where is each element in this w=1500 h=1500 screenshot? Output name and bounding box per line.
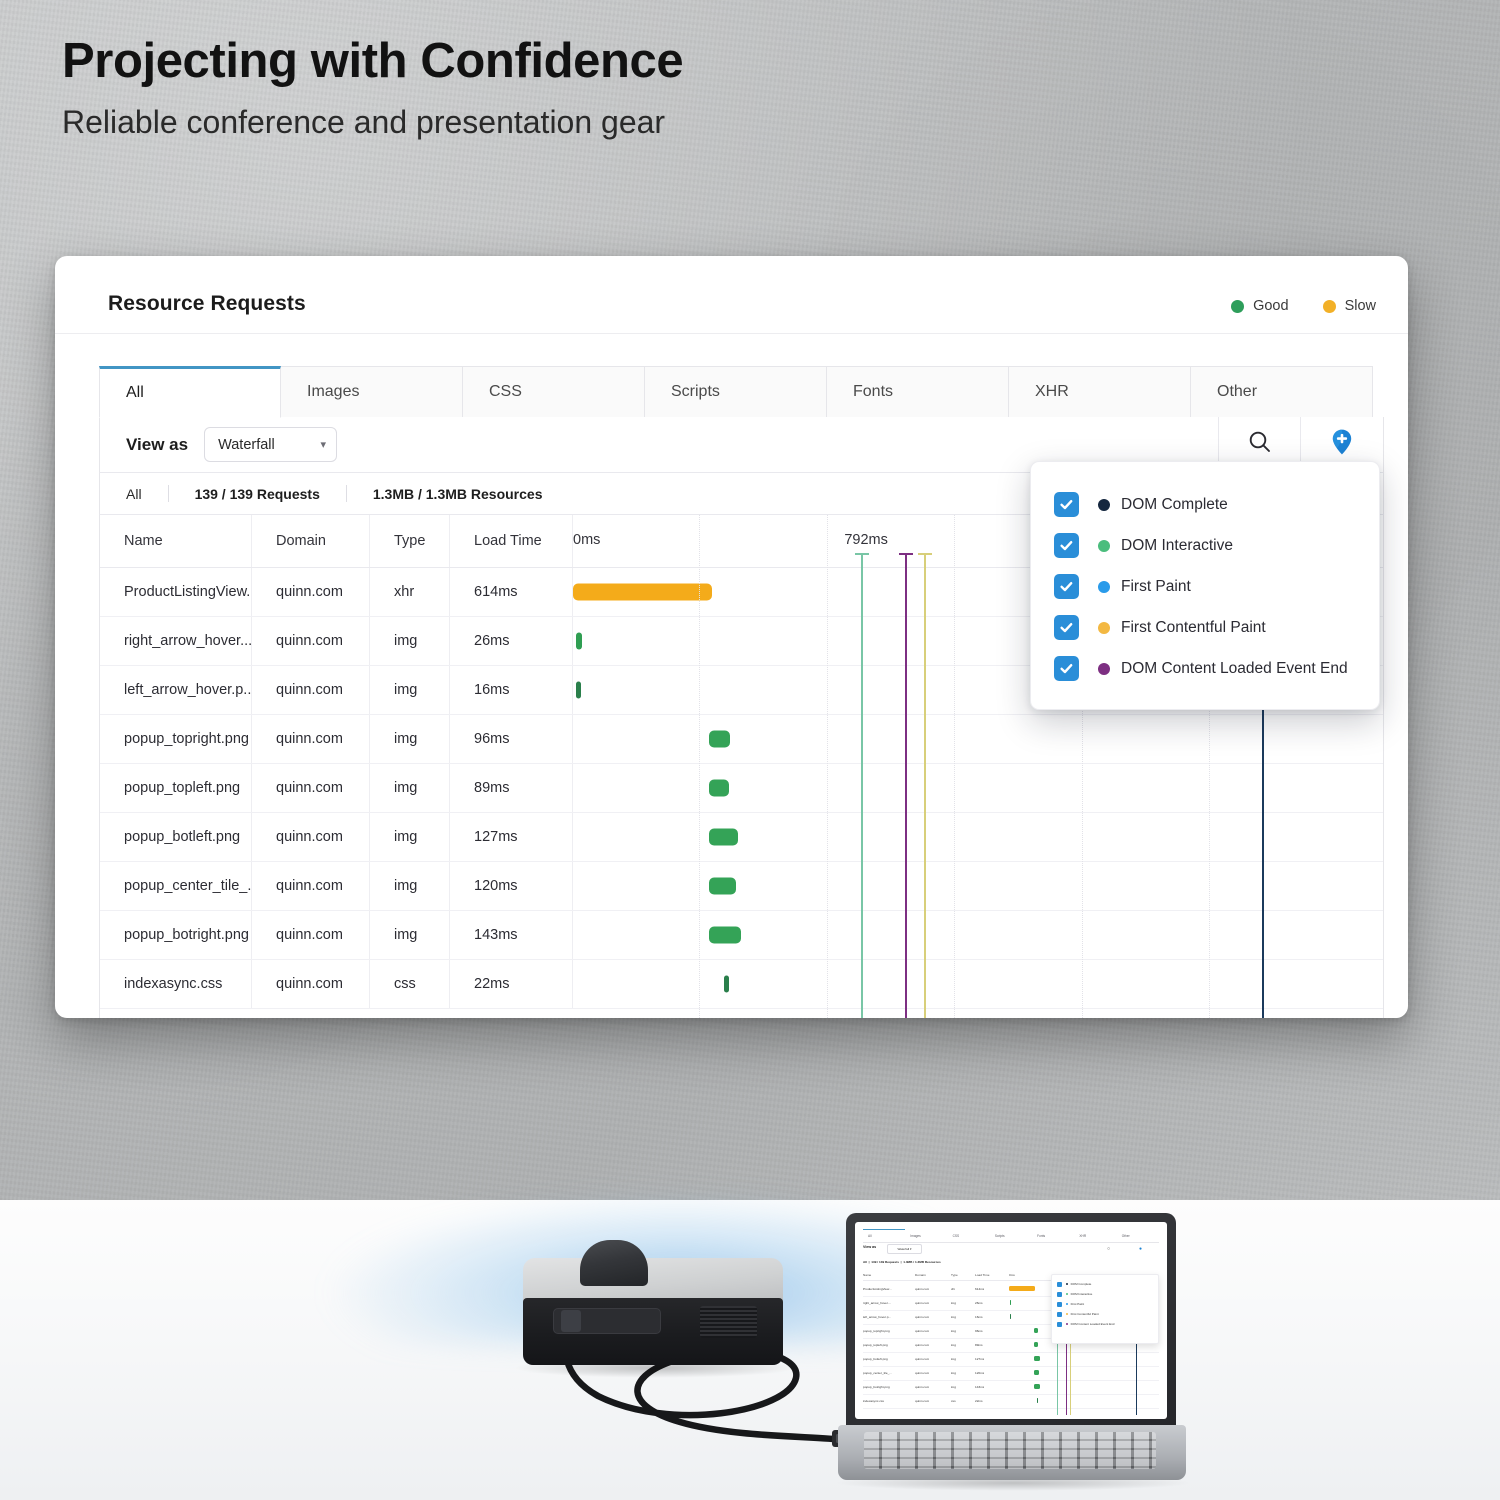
projector-vent-grille — [700, 1306, 757, 1338]
chevron-down-icon: ▾ — [321, 438, 327, 451]
cell-name: popup_botleft.png — [100, 813, 252, 861]
checkbox-checked-icon[interactable] — [1054, 656, 1079, 681]
legend-option-label: DOM Complete — [1121, 496, 1228, 514]
legend-option-label: DOM Content Loaded Event End — [1121, 660, 1348, 678]
laptop-lid: AllImagesCSSScriptsFontsXHROtherView asW… — [846, 1213, 1176, 1428]
projector-device — [523, 1240, 783, 1365]
summary-divider-2 — [346, 485, 347, 502]
table-row[interactable]: popup_center_tile_... quinn.com img 120m… — [100, 862, 1383, 911]
tab-other[interactable]: Other — [1191, 366, 1373, 418]
laptop-mini-ui: AllImagesCSSScriptsFontsXHROtherView asW… — [855, 1222, 1167, 1419]
cell-domain: quinn.com — [252, 911, 370, 959]
projector-cable-plug — [561, 1310, 581, 1332]
cell-name: popup_topright.png — [100, 715, 252, 763]
status-dot-slow — [1323, 300, 1336, 313]
cell-load-time: 614ms — [450, 568, 573, 616]
legend-option-label: DOM Interactive — [1121, 537, 1233, 555]
table-row[interactable]: popup_topright.png quinn.com img 96ms — [100, 715, 1383, 764]
legend-color-dot — [1098, 622, 1110, 634]
cell-type: img — [370, 617, 450, 665]
mini-legend-popup: DOM CompleteDOM InteractiveFirst PaintFi… — [1051, 1274, 1159, 1344]
column-header-domain[interactable]: Domain — [252, 515, 370, 567]
status-legend: Good Slow — [1231, 298, 1376, 314]
hero-subtitle: Reliable conference and presentation gea… — [62, 105, 683, 140]
mini-column-header: Load Time — [975, 1273, 989, 1277]
cell-name: left_arrow_hover.p... — [100, 666, 252, 714]
checkbox-checked-icon[interactable] — [1054, 615, 1079, 640]
table-row[interactable]: popup_botright.png quinn.com img 143ms — [100, 911, 1383, 960]
laptop-screen: AllImagesCSSScriptsFontsXHROtherView asW… — [855, 1222, 1167, 1419]
cell-waterfall — [573, 960, 1383, 1008]
waterfall-bar — [709, 878, 736, 895]
cell-load-time: 89ms — [450, 764, 573, 812]
mini-tab-bar: AllImagesCSSScriptsFontsXHROther — [863, 1229, 1159, 1243]
status-legend-item-slow: Slow — [1323, 298, 1376, 314]
cell-type: img — [370, 813, 450, 861]
status-dot-good — [1231, 300, 1244, 313]
legend-color-dot — [1098, 499, 1110, 511]
legend-option-label: First Contentful Paint — [1121, 619, 1266, 637]
laptop-keyboard — [864, 1432, 1156, 1469]
cell-domain: quinn.com — [252, 715, 370, 763]
cell-type: xhr — [370, 568, 450, 616]
checkbox-checked-icon[interactable] — [1054, 492, 1079, 517]
tab-label: CSS — [489, 383, 522, 401]
view-as-select[interactable]: Waterfall ▾ — [204, 427, 337, 462]
cell-domain: quinn.com — [252, 813, 370, 861]
legend-option-row[interactable]: DOM Content Loaded Event End — [1031, 648, 1379, 689]
cell-waterfall — [573, 764, 1383, 812]
view-as-value: Waterfall — [218, 437, 275, 453]
laptop-device: AllImagesCSSScriptsFontsXHROtherView asW… — [838, 1213, 1188, 1500]
tab-images[interactable]: Images — [281, 366, 463, 418]
mini-table-row: popup_botright.png quinn.com img 143ms — [863, 1380, 1159, 1395]
summary-requests: 139 / 139 Requests — [195, 486, 320, 502]
cell-name: indexasync.css — [100, 960, 252, 1008]
legend-option-label: First Paint — [1121, 578, 1191, 596]
column-header-load-time[interactable]: Load Time — [450, 515, 573, 567]
view-as-label: View as — [126, 435, 188, 455]
cell-waterfall — [573, 911, 1383, 959]
table-row[interactable]: popup_botleft.png quinn.com img 127ms — [100, 813, 1383, 862]
cell-type: img — [370, 666, 450, 714]
tab-bar[interactable]: All Images CSS Scripts Fonts XHR Other — [99, 366, 1373, 418]
waterfall-bar — [709, 829, 738, 846]
mini-view-as-select: Waterfall ▾ — [887, 1244, 922, 1254]
summary-divider-1 — [168, 485, 169, 502]
cell-domain: quinn.com — [252, 862, 370, 910]
table-row[interactable]: popup_topleft.png quinn.com img 89ms — [100, 764, 1383, 813]
mini-table-row: indexasync.css quinn.com css 22ms — [863, 1394, 1159, 1409]
waterfall-bar — [709, 927, 741, 944]
cell-domain: quinn.com — [252, 764, 370, 812]
cell-load-time: 26ms — [450, 617, 573, 665]
cell-domain: quinn.com — [252, 666, 370, 714]
cell-load-time: 120ms — [450, 862, 573, 910]
waterfall-bar — [573, 584, 712, 601]
legend-color-dot — [1098, 663, 1110, 675]
timing-markers-legend-popup[interactable]: DOM Complete DOM Interactive First Paint… — [1030, 461, 1380, 710]
cell-load-time: 143ms — [450, 911, 573, 959]
cell-type: img — [370, 715, 450, 763]
cell-domain: quinn.com — [252, 960, 370, 1008]
cell-name: popup_center_tile_... — [100, 862, 252, 910]
cell-load-time: 22ms — [450, 960, 573, 1008]
mini-table-row: popup_botleft.png quinn.com img 127ms — [863, 1352, 1159, 1367]
tab-label: Scripts — [671, 383, 720, 401]
cell-waterfall — [573, 862, 1383, 910]
checkbox-checked-icon[interactable] — [1054, 574, 1079, 599]
projected-screen-panel: Resource Requests Good Slow All Images C… — [55, 256, 1408, 1018]
legend-color-dot — [1098, 581, 1110, 593]
add-marker-pin-icon — [1330, 428, 1354, 461]
cell-type: img — [370, 911, 450, 959]
table-row[interactable]: indexasync.css quinn.com css 22ms — [100, 960, 1383, 1009]
cell-name: popup_topleft.png — [100, 764, 252, 812]
waterfall-bar — [576, 633, 582, 650]
timeline-tick: 0ms — [573, 532, 600, 548]
mini-view-as-label: View as — [863, 1245, 876, 1249]
mini-column-header: Domain — [915, 1273, 926, 1277]
hero-title: Projecting with Confidence — [62, 36, 683, 88]
tab-all[interactable]: All — [99, 366, 281, 418]
mini-tab: CSS — [948, 1229, 990, 1242]
search-icon — [1247, 429, 1273, 460]
projector-lens-hood — [580, 1240, 648, 1286]
mini-tab: Fonts — [1032, 1229, 1074, 1242]
cell-name: popup_botright.png — [100, 911, 252, 959]
tab-label: Images — [307, 383, 359, 401]
column-header-name[interactable]: Name — [100, 515, 252, 567]
mini-table-row: popup_center_tile_... quinn.com img 120m… — [863, 1366, 1159, 1381]
checkbox-checked-icon[interactable] — [1054, 533, 1079, 558]
cell-name: ProductListingView... — [100, 568, 252, 616]
summary-resources: 1.3MB / 1.3MB Resources — [373, 486, 543, 502]
timeline-tick: 792ms — [844, 532, 888, 548]
cell-waterfall — [573, 715, 1383, 763]
cell-type: img — [370, 862, 450, 910]
tab-label: XHR — [1035, 383, 1069, 401]
tab-label: All — [126, 384, 144, 402]
cell-domain: quinn.com — [252, 568, 370, 616]
waterfall-bar — [576, 682, 580, 699]
legend-option-row[interactable]: First Paint — [1031, 566, 1379, 607]
mini-summary: All | 139 / 139 Requests | 1.3MB / 1.3MB… — [863, 1260, 941, 1264]
cell-load-time: 16ms — [450, 666, 573, 714]
legend-option-row[interactable]: DOM Interactive — [1031, 525, 1379, 566]
status-legend-label: Good — [1253, 298, 1288, 314]
mini-column-header: Type — [951, 1273, 958, 1277]
cell-load-time: 96ms — [450, 715, 573, 763]
cell-type: css — [370, 960, 450, 1008]
tab-xhr[interactable]: XHR — [1009, 366, 1191, 418]
tab-fonts[interactable]: Fonts — [827, 366, 1009, 418]
mini-tab: All — [863, 1229, 905, 1242]
legend-option-row[interactable]: DOM Complete — [1031, 484, 1379, 525]
mini-tab: XHR — [1074, 1229, 1116, 1242]
tab-label: Other — [1217, 383, 1257, 401]
waterfall-bar — [724, 976, 729, 993]
cell-name: right_arrow_hover.... — [100, 617, 252, 665]
tab-scripts[interactable]: Scripts — [645, 366, 827, 418]
legend-option-row[interactable]: First Contentful Paint — [1031, 607, 1379, 648]
cell-type: img — [370, 764, 450, 812]
status-legend-item-good: Good — [1231, 298, 1288, 314]
cell-load-time: 127ms — [450, 813, 573, 861]
mini-tab: Scripts — [990, 1229, 1032, 1242]
tab-css[interactable]: CSS — [463, 366, 645, 418]
mini-add-marker-icon: ● — [1139, 1246, 1142, 1252]
mini-column-header: Name — [863, 1273, 871, 1277]
status-legend-label: Slow — [1345, 298, 1376, 314]
summary-scope: All — [126, 486, 142, 502]
cell-domain: quinn.com — [252, 617, 370, 665]
cell-waterfall — [573, 813, 1383, 861]
waterfall-bar — [709, 731, 730, 748]
hero-text-block: Projecting with Confidence Reliable conf… — [62, 36, 683, 140]
legend-color-dot — [1098, 540, 1110, 552]
waterfall-bar — [709, 780, 728, 797]
panel-header: Resource Requests Good Slow — [55, 256, 1408, 334]
mini-tab: Other — [1117, 1229, 1159, 1242]
mini-tab: Images — [905, 1229, 947, 1242]
tab-label: Fonts — [853, 383, 893, 401]
column-header-type[interactable]: Type — [370, 515, 450, 567]
mini-search-icon: ○ — [1107, 1246, 1110, 1252]
page-title: Resource Requests — [108, 292, 306, 316]
